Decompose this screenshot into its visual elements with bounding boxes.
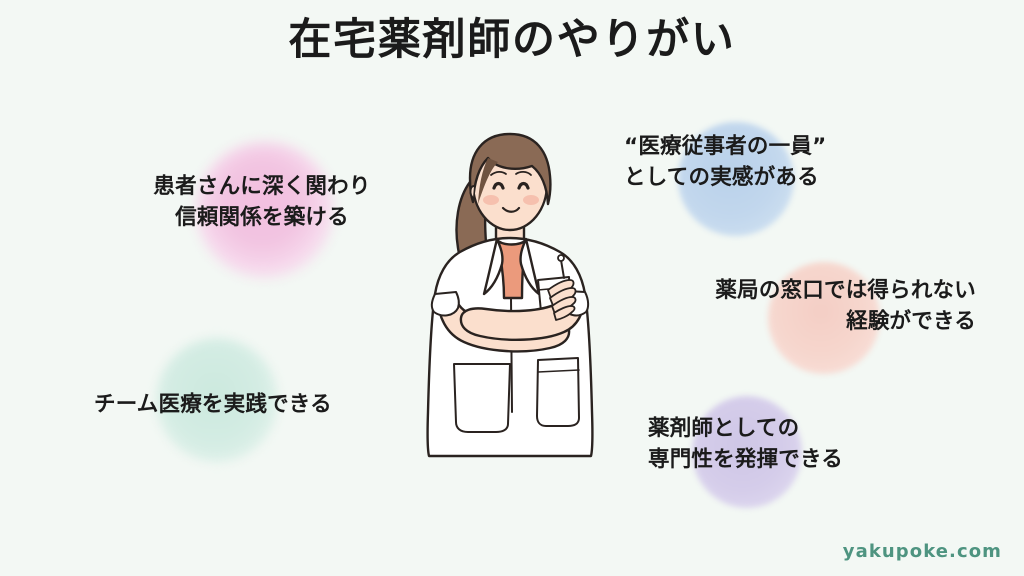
caption-patient-relationship: 患者さんに深く関わり 信頼関係を築ける — [130, 172, 394, 233]
pharmacist-svg — [398, 112, 622, 468]
blush-left — [483, 195, 499, 205]
caption-medical-team-member: “医療従事者の一員” としての実感がある — [624, 132, 872, 193]
caption-line: 信頼関係を築ける — [130, 203, 394, 234]
slide-canvas: 在宅薬剤師のやりがい — [0, 0, 1024, 576]
caption-line: 患者さんに深く関わり — [130, 172, 394, 203]
caption-beyond-pharmacy-counter: 薬局の窓口では得られない 経験ができる — [684, 276, 976, 337]
coat-pocket-left — [454, 364, 510, 432]
caption-line: 薬剤師としての — [648, 414, 880, 445]
pen-tip-icon — [558, 255, 564, 261]
caption-line: としての実感がある — [624, 163, 872, 194]
coat-pocket-right — [537, 358, 579, 426]
caption-line: 経験ができる — [684, 307, 976, 338]
caption-pharmacist-specialty: 薬剤師としての 専門性を発揮できる — [648, 414, 880, 475]
female-pharmacist-illustration — [398, 112, 622, 468]
caption-line: 薬局の窓口では得られない — [684, 276, 976, 307]
coat-sleeve-left — [432, 292, 459, 315]
caption-line: チーム医療を実践できる — [94, 390, 382, 421]
site-watermark: yakupoke.com — [843, 541, 1002, 562]
caption-team-medicine: チーム医療を実践できる — [94, 390, 382, 421]
caption-line: “医療従事者の一員” — [624, 132, 872, 163]
blush-right — [523, 195, 539, 205]
page-title: 在宅薬剤師のやりがい — [0, 16, 1024, 65]
caption-line: 専門性を発揮できる — [648, 445, 880, 476]
